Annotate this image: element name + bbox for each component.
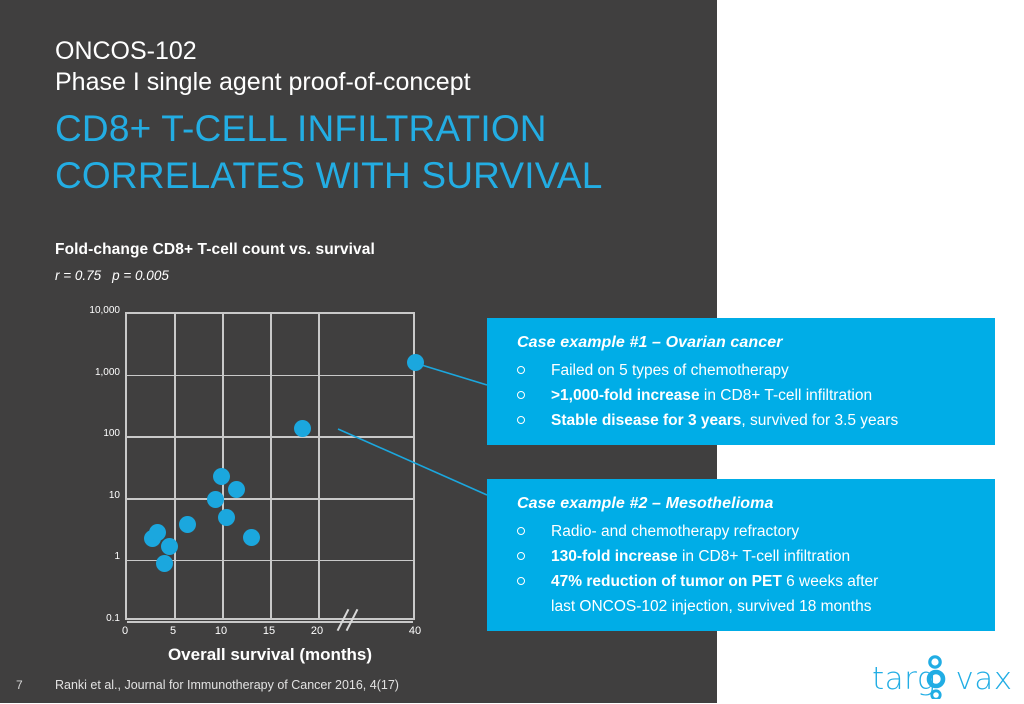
list-item: Failed on 5 types of chemotherapy <box>513 358 985 383</box>
x-axis-tick-label: 40 <box>395 625 435 637</box>
gridline-vertical <box>174 314 176 618</box>
page-number: 7 <box>16 678 23 692</box>
x-axis-tick-label: 5 <box>153 625 193 637</box>
callout-2-list: Radio- and chemotherapy refractory 130-f… <box>513 519 985 619</box>
list-item-text: in CD8+ T-cell infiltration <box>700 387 872 404</box>
list-item-bold: 130-fold increase <box>551 548 678 565</box>
gridline-vertical <box>318 314 320 618</box>
data-point <box>407 354 424 371</box>
list-item: 47% reduction of tumor on PET 6 weeks af… <box>513 569 985 594</box>
list-item-bold: 47% reduction of tumor on PET <box>551 573 782 590</box>
bullet-circle-icon <box>517 391 525 399</box>
list-item-text: Failed on 5 types of chemotherapy <box>551 362 789 379</box>
x-axis-tick-label: 15 <box>249 625 289 637</box>
callout-case-example-1: Case example #1 – Ovarian cancer Failed … <box>487 318 995 445</box>
gridline-vertical <box>222 314 224 618</box>
y-axis-tick-label: 1,000 <box>95 367 120 378</box>
y-axis-tick-label: 10,000 <box>89 305 120 316</box>
list-item-bold: Stable disease for 3 years <box>551 412 741 429</box>
scatter-chart: 10,0001,0001001010.1 0510152040 CD8+ fol… <box>0 0 470 680</box>
list-item: >1,000-fold increase in CD8+ T-cell infi… <box>513 383 985 408</box>
data-point <box>294 420 311 437</box>
callout-2-title: Case example #2 – Mesothelioma <box>517 491 773 516</box>
bullet-circle-icon <box>517 577 525 585</box>
bullet-circle-icon <box>517 552 525 560</box>
bullet-circle-icon <box>517 527 525 535</box>
list-item-text: Radio- and chemotherapy refractory <box>551 523 799 540</box>
logo-text-targ: targ <box>872 661 936 697</box>
x-axis-tick-label: 10 <box>201 625 241 637</box>
list-item-text: , survived for 3.5 years <box>741 412 898 429</box>
x-axis-title: Overall survival (months) <box>125 645 415 665</box>
y-axis-tick-label: 10 <box>109 490 120 501</box>
x-axis-tick-label: 0 <box>105 625 145 637</box>
x-axis-tick-label: 20 <box>297 625 337 637</box>
y-axis-tick-label: 0.1 <box>106 613 120 624</box>
list-item-continuation: last ONCOS-102 injection, survived 18 mo… <box>513 594 985 619</box>
list-item: Stable disease for 3 years, survived for… <box>513 408 985 433</box>
logo-wordmark: targovax <box>872 661 1013 697</box>
list-item: 130-fold increase in CD8+ T-cell infiltr… <box>513 544 985 569</box>
data-point <box>161 538 178 555</box>
bullet-circle-icon <box>517 366 525 374</box>
y-axis-tick-label: 100 <box>103 428 120 439</box>
list-item-bold: >1,000-fold increase <box>551 387 700 404</box>
citation: Ranki et al., Journal for Immunotherapy … <box>55 678 399 692</box>
data-point <box>243 529 260 546</box>
x-axis-tick-labels: 0510152040 <box>0 625 470 645</box>
bullet-circle-icon <box>517 416 525 424</box>
logo-text-vax: vax <box>955 661 1012 697</box>
data-point <box>207 491 224 508</box>
callout-1-list: Failed on 5 types of chemotherapy >1,000… <box>513 358 985 433</box>
callout-1-title: Case example #1 – Ovarian cancer <box>517 330 783 355</box>
gridline-vertical <box>270 314 272 618</box>
data-point <box>213 468 230 485</box>
list-item-text: in CD8+ T-cell infiltration <box>678 548 850 565</box>
list-item-text: 6 weeks after <box>782 573 879 590</box>
y-axis-tick-labels: 10,0001,0001001010.1 <box>55 0 120 703</box>
list-item: Radio- and chemotherapy refractory <box>513 519 985 544</box>
gridline-horizontal <box>127 621 413 623</box>
targovax-logo: targovax <box>872 655 1002 699</box>
callout-case-example-2: Case example #2 – Mesothelioma Radio- an… <box>487 479 995 631</box>
plot-area <box>125 312 415 620</box>
data-point <box>228 481 245 498</box>
y-axis-tick-label: 1 <box>114 551 120 562</box>
data-point <box>156 555 173 572</box>
